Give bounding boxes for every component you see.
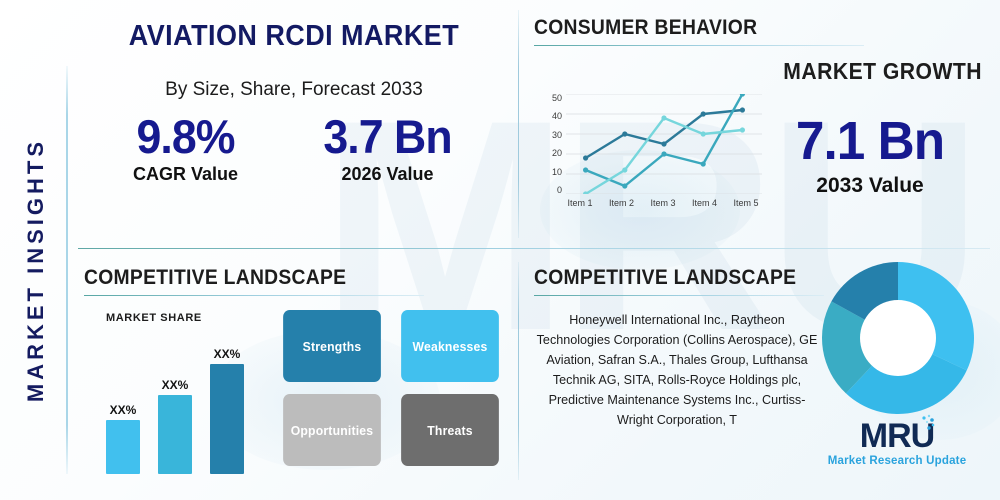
- stat-cagr-label: CAGR Value: [133, 164, 238, 185]
- competitive-landscape-right-panel: COMPETITIVE LANDSCAPE Honeywell Internat…: [534, 266, 990, 482]
- stat-2026-label: 2026 Value: [320, 164, 455, 185]
- data-point: [583, 167, 588, 172]
- donut-chart: [822, 262, 974, 414]
- swot-cell-threats[interactable]: Threats: [401, 394, 499, 466]
- x-tick-label: Item 4: [685, 198, 725, 208]
- company-list: Honeywell International Inc., Raytheon T…: [534, 310, 820, 430]
- overview-panel: AVIATION RCDI MARKET By Size, Share, For…: [78, 12, 510, 240]
- stat-2033-label: 2033 Value: [770, 174, 970, 198]
- infographic-page: MRU MARKET INSIGHTS AVIATION RCDI MARKET…: [0, 0, 1000, 500]
- bar-rect: [210, 364, 244, 474]
- market-insights-rail: MARKET INSIGHTS: [14, 70, 58, 470]
- y-tick-label: 50: [552, 94, 562, 102]
- line-chart: 50403020100 Item 1Item 2Item 3Item 4Item…: [536, 94, 766, 220]
- page-subtitle: By Size, Share, Forecast 2033: [78, 79, 510, 101]
- swot-cell-strengths[interactable]: Strengths: [283, 310, 381, 382]
- data-point: [661, 151, 666, 156]
- data-point: [701, 161, 706, 166]
- vertical-divider-bottom: [518, 262, 519, 480]
- data-point: [622, 131, 627, 136]
- consumer-behavior-heading: CONSUMER BEHAVIOR: [534, 16, 838, 40]
- stat-2033: 7.1 Bn 2033 Value: [770, 114, 970, 198]
- competitive-right-rule: [534, 295, 824, 296]
- market-share-title: MARKET SHARE: [106, 312, 270, 324]
- data-point: [661, 141, 666, 146]
- line-chart-plot: [566, 94, 762, 194]
- bar-rect: [106, 420, 140, 474]
- stat-cagr: 9.8% CAGR Value: [133, 113, 238, 185]
- consumer-behavior-heading-wrap: CONSUMER BEHAVIOR: [534, 16, 864, 46]
- swot-cell-weaknesses[interactable]: Weaknesses: [401, 310, 499, 382]
- stat-2033-value: 7.1 Bn: [775, 114, 965, 168]
- competitive-left-heading-wrap: COMPETITIVE LANDSCAPE: [84, 266, 424, 296]
- consumer-behavior-rule: [534, 45, 864, 46]
- market-share-bars: XX%XX%XX%: [106, 346, 266, 474]
- market-share-bar-column: XX%: [210, 347, 244, 474]
- data-point: [740, 107, 745, 112]
- market-share-bar-column: XX%: [106, 403, 140, 474]
- line-series: [586, 94, 743, 186]
- data-point: [622, 183, 627, 188]
- page-title: AVIATION RCDI MARKET: [93, 20, 495, 53]
- market-share-bar-column: XX%: [158, 378, 192, 474]
- data-point: [740, 127, 745, 132]
- data-point: [701, 131, 706, 136]
- x-tick-label: Item 2: [602, 198, 642, 208]
- bar-rect: [158, 395, 192, 474]
- line-chart-y-axis: 50403020100: [536, 94, 562, 194]
- y-tick-label: 10: [552, 168, 562, 176]
- data-point: [701, 111, 706, 116]
- swot-grid: StrengthsWeaknessesOpportunitiesThreats: [280, 310, 510, 468]
- x-tick-label: Item 5: [726, 198, 766, 208]
- bar-value-label: XX%: [110, 403, 137, 417]
- vertical-divider-top: [518, 10, 519, 238]
- mru-logo: MRU Market Research Update: [822, 418, 972, 467]
- data-point: [622, 167, 627, 172]
- swot-cell-opportunities[interactable]: Opportunities: [283, 394, 381, 466]
- data-point: [583, 155, 588, 160]
- mru-logo-mark: MRU: [860, 418, 934, 454]
- market-share-chart: MARKET SHARE XX%XX%XX%: [90, 312, 270, 480]
- logo-dots-icon: [919, 414, 937, 434]
- market-insights-label: MARKET INSIGHTS: [23, 138, 49, 402]
- y-tick-label: 20: [552, 149, 562, 157]
- horizontal-divider: [78, 248, 990, 249]
- consumer-behavior-body: 50403020100 Item 1Item 2Item 3Item 4Item…: [534, 88, 990, 238]
- donut-hole: [860, 300, 936, 376]
- consumer-behavior-panel: CONSUMER BEHAVIOR MARKET GROWTH 50403020…: [534, 16, 990, 240]
- bar-value-label: XX%: [162, 378, 189, 392]
- stat-cagr-value: 9.8%: [136, 113, 236, 161]
- competitive-left-rule: [84, 295, 424, 296]
- overview-stats: 9.8% CAGR Value 3.7 Bn 2026 Value: [78, 113, 510, 185]
- y-tick-label: 0: [557, 186, 562, 194]
- rail-divider: [66, 66, 68, 474]
- y-tick-label: 40: [552, 112, 562, 120]
- competitive-left-body: MARKET SHARE XX%XX%XX% StrengthsWeakness…: [84, 312, 510, 482]
- line-chart-svg: [566, 94, 762, 194]
- competitive-left-heading: COMPETITIVE LANDSCAPE: [84, 266, 397, 290]
- bar-value-label: XX%: [214, 347, 241, 361]
- competitive-landscape-left-panel: COMPETITIVE LANDSCAPE MARKET SHARE XX%XX…: [84, 266, 510, 482]
- market-growth-heading: MARKET GROWTH: [783, 58, 982, 85]
- data-point: [661, 115, 666, 120]
- line-chart-x-axis: Item 1Item 2Item 3Item 4Item 5: [560, 198, 766, 208]
- stat-2026-value: 3.7 Bn: [323, 113, 451, 161]
- x-tick-label: Item 3: [643, 198, 683, 208]
- mru-logo-tagline: Market Research Update: [822, 455, 972, 467]
- competitive-right-heading-wrap: COMPETITIVE LANDSCAPE: [534, 266, 824, 296]
- x-tick-label: Item 1: [560, 198, 600, 208]
- y-tick-label: 30: [552, 131, 562, 139]
- stat-2026: 3.7 Bn 2026 Value: [320, 113, 455, 185]
- competitive-right-heading: COMPETITIVE LANDSCAPE: [534, 266, 801, 290]
